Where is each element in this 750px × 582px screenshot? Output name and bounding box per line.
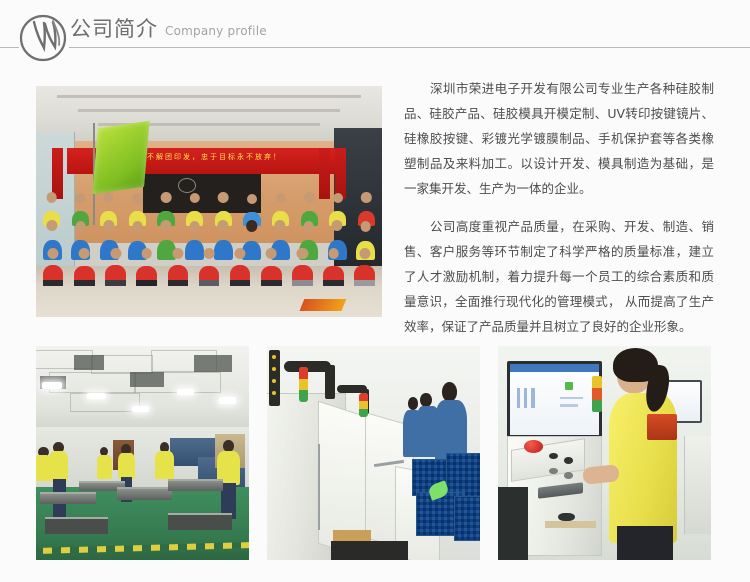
section-title-group: 公司简介 Company profile [70, 17, 267, 41]
photo-green-flag [92, 121, 149, 194]
page-header: 公司简介 Company profile [0, 0, 750, 68]
screen-shape [531, 388, 535, 408]
photo-equipment-left [498, 487, 528, 560]
console-shelf [545, 521, 596, 527]
company-paragraph-1: 深圳市荣进电子开发有限公司专业生产各种硅胶制品、硅胶产品、硅胶模具开模定制、UV… [404, 76, 714, 201]
photo-rod [318, 444, 320, 530]
photo-bench [40, 492, 95, 505]
company-paragraph-2: 公司高度重视产品质量，在采购、开发、制造、销售、客户服务等环节制定了科学严格的质… [404, 214, 714, 339]
photo-bench [168, 479, 223, 492]
cable-carrier [269, 350, 280, 406]
ceiling-lamp [42, 382, 61, 388]
workshop-production-floor [36, 346, 249, 560]
worker-shirt [118, 453, 135, 479]
quality-inspection-station [498, 346, 711, 560]
ceiling-slat [57, 95, 361, 98]
screen-titlebar [510, 364, 600, 373]
photo-monitor [507, 361, 603, 438]
signal-tower [592, 376, 603, 412]
ceiling-lamp [87, 393, 106, 399]
cable-carrier [325, 365, 336, 399]
screen-shape [517, 388, 521, 408]
screen-shape [524, 388, 528, 408]
screen-shape [560, 397, 583, 400]
ceiling-lamp [132, 406, 149, 412]
section-title-cn: 公司简介 [70, 17, 158, 41]
worker-head [420, 393, 432, 407]
cnc-machining-line [267, 346, 480, 560]
company-description: 深圳市荣进电子开发有限公司专业生产各种硅胶制品、硅胶产品、硅胶模具开模定制、UV… [404, 76, 714, 352]
section-title-en: Company profile [165, 23, 267, 41]
photo-floor-mat [300, 299, 346, 311]
ceiling-vent [130, 372, 164, 387]
console-button [564, 472, 573, 478]
screen-shape [560, 404, 578, 407]
signal-tower [359, 393, 368, 417]
console-button [549, 468, 558, 474]
ceiling-lamp [219, 397, 236, 403]
console-button [564, 457, 573, 463]
photo-mouse [558, 513, 575, 522]
ceiling-lamp [177, 389, 194, 395]
parts-crate [454, 496, 480, 541]
worker-shirt [49, 451, 68, 481]
shirt-logo-print [647, 414, 677, 440]
company-group-photo: 百思不解团印发，忠于目标永不放弃！ [36, 86, 382, 317]
company-logo-mark [16, 8, 72, 64]
worker-head [442, 382, 457, 401]
photo-conveyor-belt [331, 541, 408, 560]
ceiling-slat [78, 109, 341, 112]
photo-bench [117, 487, 172, 500]
ceiling-vent [74, 355, 104, 370]
worker-shirt [97, 455, 112, 479]
signal-tower [299, 367, 308, 401]
worker-shirt [36, 455, 51, 481]
ceiling-vent [194, 355, 232, 372]
photo-equipment-right [684, 436, 711, 534]
header-divider-right [69, 47, 750, 48]
photo-pallet [45, 517, 109, 534]
photo-people-row-front [43, 248, 375, 286]
operator-pants [617, 526, 672, 560]
facility-photo-gallery [36, 346, 713, 560]
photo-carton [333, 530, 371, 541]
photo-monitor-screen [510, 364, 600, 435]
screen-status-indicator [565, 382, 573, 390]
photo-pallet [168, 513, 232, 530]
worker-shirt [155, 451, 174, 479]
emergency-stop-button [524, 440, 543, 453]
